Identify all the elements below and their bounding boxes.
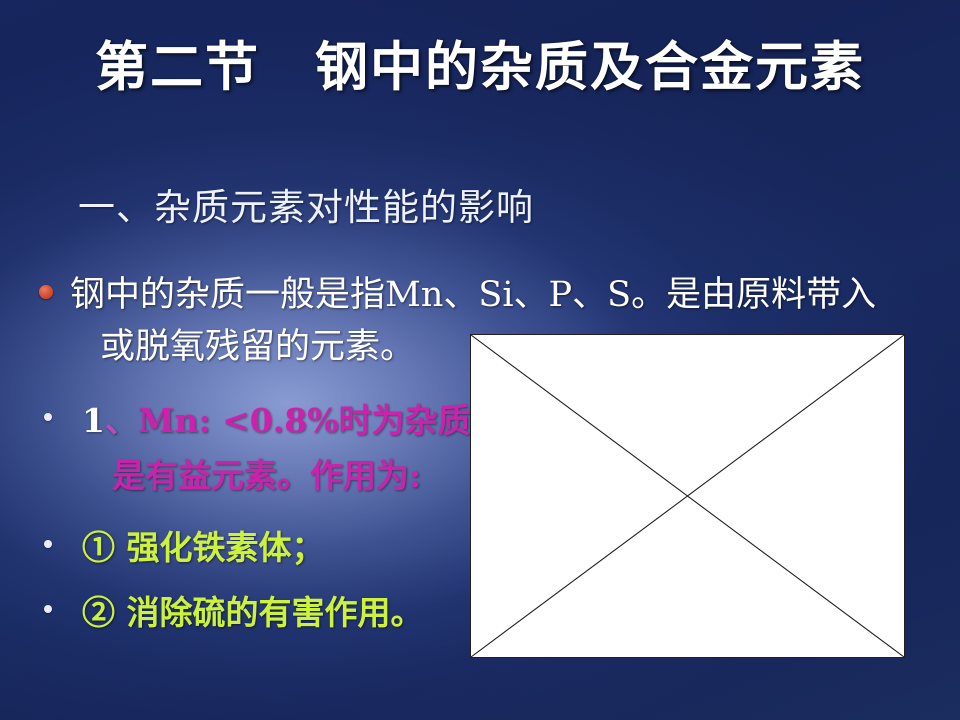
item-1-text: Mn: <0.8%时为杂质， bbox=[138, 401, 504, 440]
item-1-line-1: 1、Mn: <0.8%时为杂质， bbox=[82, 394, 504, 442]
slide-title: 第二节 钢中的杂质及合金元素 bbox=[0, 38, 960, 97]
paragraph-1-line-2: 或脱氧残留的元素。 bbox=[100, 318, 415, 369]
dot-bullet-icon-item-2 bbox=[44, 540, 52, 548]
missing-image-placeholder bbox=[470, 334, 905, 658]
paragraph-1-line-1: 钢中的杂质一般是指Mn、Si、P、S。是由原料带入 bbox=[70, 266, 876, 317]
dot-bullet-icon-item-3 bbox=[44, 605, 52, 613]
item-2-text: ① 强化铁素体； bbox=[82, 521, 325, 569]
dot-bullet-icon-item-1 bbox=[44, 413, 52, 421]
placeholder-cross-icon bbox=[471, 335, 904, 657]
slide-canvas: 第二节 钢中的杂质及合金元素 一、杂质元素对性能的影响 钢中的杂质一般是指Mn、… bbox=[0, 0, 960, 720]
item-1-number: 1 bbox=[82, 401, 105, 440]
item-1-line-2: 是有益元素。作用为: bbox=[112, 449, 421, 497]
item-3-text: ② 消除硫的有害作用。 bbox=[82, 586, 424, 634]
item-1-separator: 、 bbox=[105, 401, 138, 440]
slide-subheading: 一、杂质元素对性能的影响 bbox=[78, 186, 534, 230]
round-red-bullet-icon bbox=[39, 285, 53, 299]
